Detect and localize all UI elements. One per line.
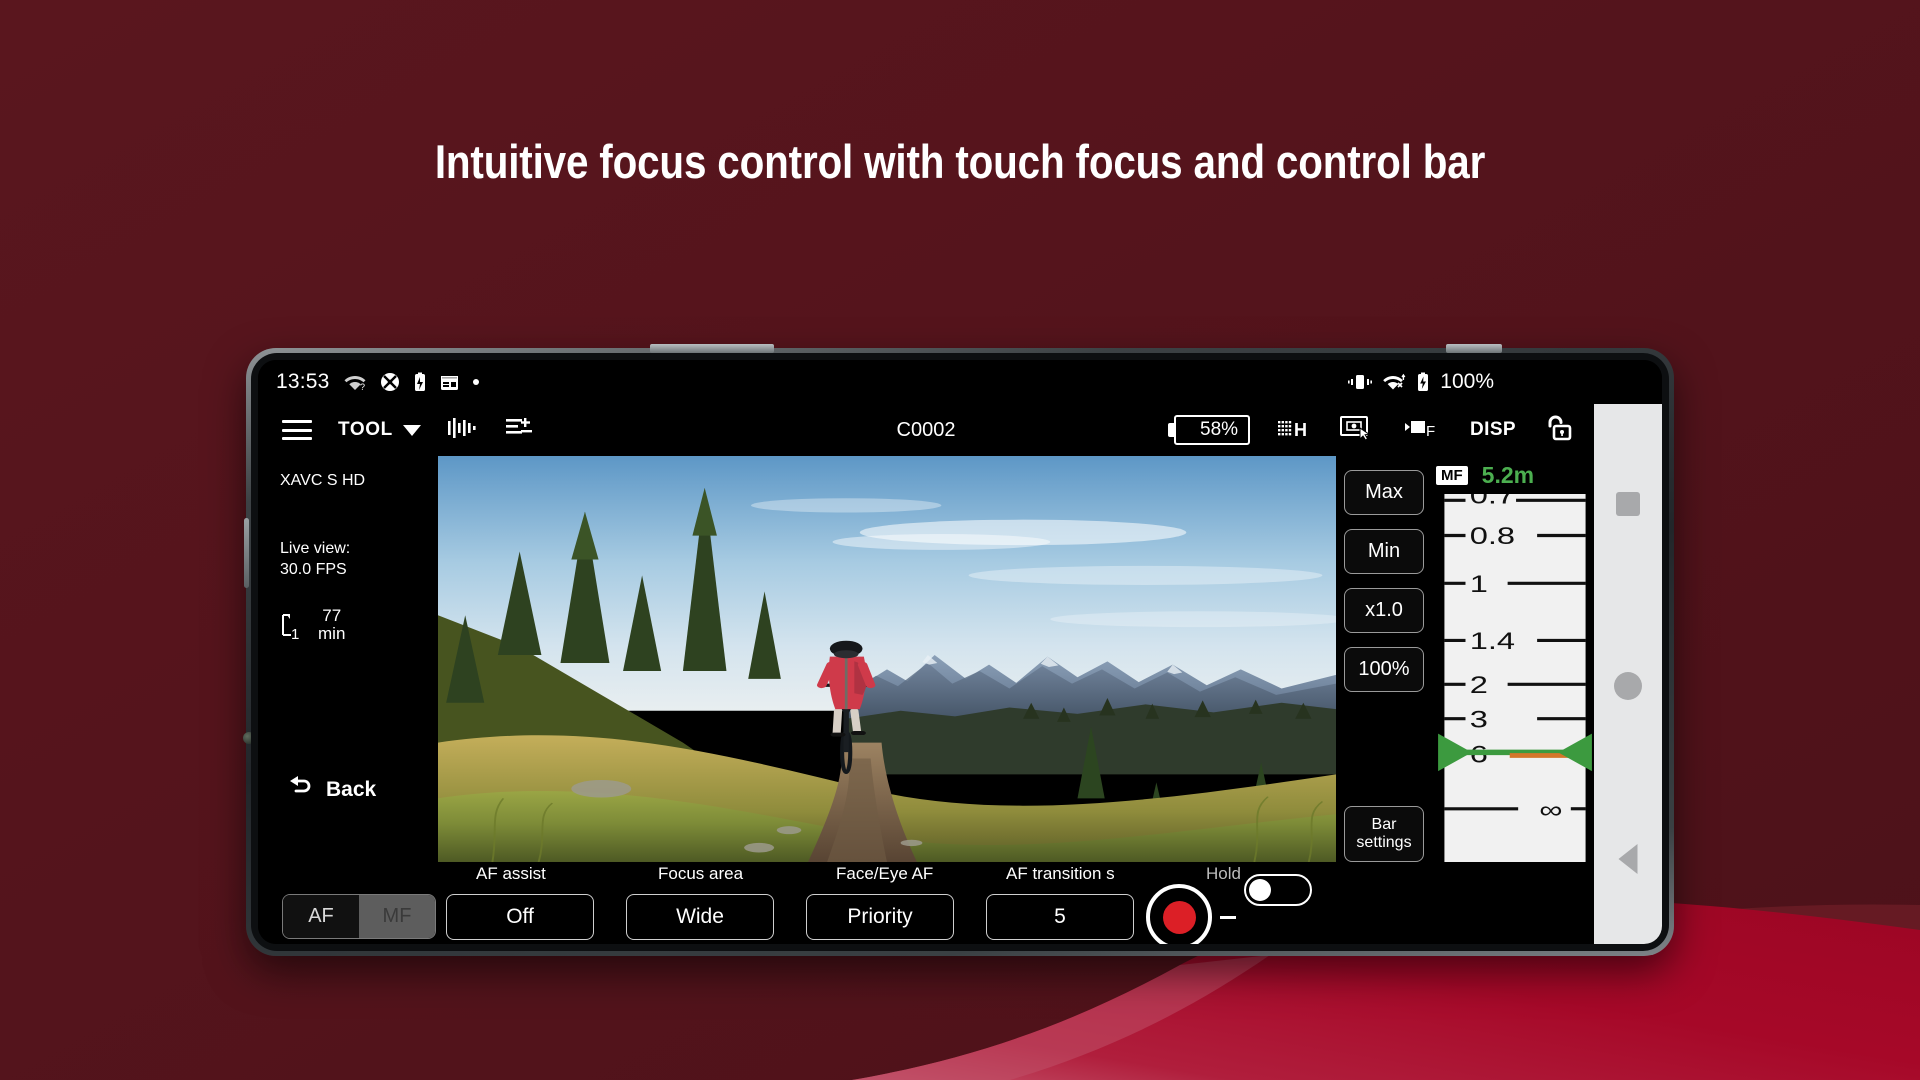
battery-saver-icon	[413, 372, 427, 392]
toolbar-right-group: 58% H	[1168, 414, 1574, 447]
phone-device: 13:53 ?	[246, 348, 1674, 956]
status-badge: 58%	[1168, 415, 1250, 445]
hamburger-menu-icon[interactable]	[282, 420, 312, 440]
connector-dash	[1220, 916, 1236, 919]
svg-text:∞: ∞	[1539, 797, 1562, 824]
back-button[interactable]: Back	[286, 774, 376, 806]
af-mf-toggle[interactable]: AF MF	[282, 894, 436, 939]
remaining-time: 77 min	[318, 607, 345, 643]
back-button-label: Back	[326, 776, 376, 804]
live-view-info: Live view: 30.0 FPS	[280, 538, 438, 581]
camera-content: XAVC S HD Live view: 30.0 FPS 1	[258, 456, 1594, 862]
live-view-fps: 30.0 FPS	[280, 559, 438, 581]
unlocked-padlock-icon[interactable]	[1544, 414, 1574, 447]
back-arrow-icon	[286, 774, 314, 806]
focus-mode-icon[interactable]: F	[1404, 417, 1442, 444]
speed-button[interactable]: x1.0	[1344, 588, 1424, 633]
recording-format-label: XAVC S HD	[280, 470, 438, 492]
bottom-control-bar: AF assist Focus area Face/Eye AF AF tran…	[258, 862, 1594, 944]
touch-focus-icon[interactable]	[1340, 414, 1376, 447]
focus-mode-badge: MF	[1436, 466, 1468, 485]
android-status-bar: 13:53 ?	[258, 360, 1662, 404]
control-bar-spacer	[1344, 706, 1424, 792]
max-button[interactable]: Max	[1344, 470, 1424, 515]
vibrate-icon	[1348, 373, 1372, 391]
dot-icon	[472, 378, 480, 386]
af-transition-value-button[interactable]: 5	[986, 894, 1134, 940]
af-assist-label: AF assist	[476, 864, 546, 884]
audio-levels-icon[interactable]	[447, 417, 479, 444]
live-view-image[interactable]	[438, 456, 1336, 862]
viewfinder[interactable]	[438, 456, 1336, 862]
camera-app: TOOL	[258, 404, 1662, 944]
disp-button[interactable]: DISP	[1470, 419, 1516, 441]
af-transition-label: AF transition s	[1006, 864, 1115, 884]
svg-text:H: H	[1294, 420, 1307, 439]
focus-area-value-button[interactable]: Wide	[626, 894, 774, 940]
camera-app-main: TOOL	[258, 404, 1594, 944]
bottom-labels-row: AF assist Focus area Face/Eye AF AF tran…	[258, 864, 1594, 888]
toggle-knob	[1249, 879, 1271, 901]
left-info-panel: XAVC S HD Live view: 30.0 FPS 1	[258, 456, 438, 862]
android-nav-rail	[1594, 404, 1662, 944]
svg-text:3: 3	[1470, 706, 1488, 733]
page-title: Intuitive focus control with touch focus…	[134, 134, 1785, 189]
phone-sensor-nub	[1446, 344, 1502, 353]
camera-battery-percent: 58%	[1174, 415, 1250, 445]
svg-text:0.8: 0.8	[1470, 523, 1515, 550]
focus-distance-panel: MF 5.2m	[1432, 456, 1594, 862]
svg-text:?: ?	[360, 382, 365, 391]
af-toggle-option[interactable]: AF	[283, 895, 359, 938]
recording-media-info: 1 77 min	[280, 607, 438, 643]
histogram-icon[interactable]: H	[1278, 417, 1312, 444]
face-eye-af-value-button[interactable]: Priority	[806, 894, 954, 940]
svg-text:F: F	[1426, 423, 1435, 439]
svg-text:1: 1	[1470, 571, 1488, 598]
bar-settings-button[interactable]: Bar settings	[1344, 806, 1424, 862]
tool-menu-label: TOOL	[338, 419, 393, 441]
af-assist-value-button[interactable]: Off	[446, 894, 594, 940]
control-bar-buttons: Max Min x1.0 100% Bar settings	[1336, 456, 1432, 862]
focus-panel-header: MF 5.2m	[1432, 456, 1594, 494]
focus-area-label: Focus area	[658, 864, 743, 884]
battery-percent-label: 100%	[1440, 370, 1494, 394]
svg-text:0.7: 0.7	[1470, 494, 1515, 509]
media-slot-icon: 1	[280, 612, 306, 642]
toolbar-left-group: TOOL	[282, 416, 535, 445]
face-eye-af-label: Face/Eye AF	[836, 864, 933, 884]
mf-toggle-option[interactable]: MF	[359, 895, 435, 938]
focus-distance-value: 5.2m	[1482, 462, 1534, 489]
bottom-buttons-row: AF MF Off Wide Priority 5	[258, 890, 1594, 942]
recents-square-icon[interactable]	[1616, 492, 1640, 516]
home-circle-icon[interactable]	[1614, 672, 1642, 700]
wifi-off-icon	[1382, 373, 1406, 391]
status-right-group: 100%	[1348, 370, 1494, 394]
phone-speaker-nub	[650, 344, 774, 353]
range-button[interactable]: 100%	[1344, 647, 1424, 692]
svg-text:2: 2	[1470, 672, 1488, 699]
back-triangle-icon[interactable]	[1619, 844, 1638, 874]
status-clock: 13:53	[276, 370, 330, 394]
wifi-question-icon: ?	[343, 373, 367, 391]
live-view-label: Live view:	[280, 538, 438, 560]
focus-distance-scale[interactable]: 0.7 0.8 1 1.4 2 3 6 ∞	[1436, 494, 1594, 862]
svg-text:1.4: 1.4	[1470, 628, 1515, 655]
tool-menu-button[interactable]: TOOL	[338, 419, 421, 441]
do-not-disturb-icon	[380, 372, 400, 392]
min-button[interactable]: Min	[1344, 529, 1424, 574]
remaining-time-unit: min	[318, 625, 345, 643]
hold-toggle-wrap	[1244, 874, 1312, 906]
camera-toolbar: TOOL	[258, 404, 1594, 456]
hold-toggle[interactable]	[1244, 874, 1312, 906]
svg-text:1: 1	[291, 626, 299, 642]
hold-label: Hold	[1206, 864, 1241, 884]
phone-screen: 13:53 ?	[258, 360, 1662, 944]
record-dot-icon	[1163, 901, 1196, 934]
remaining-time-value: 77	[318, 607, 345, 625]
status-left-group: 13:53 ?	[276, 370, 480, 394]
list-add-icon[interactable]	[505, 416, 535, 445]
record-button[interactable]	[1146, 884, 1212, 944]
phone-side-button	[244, 518, 249, 588]
battery-charging-icon	[1416, 372, 1430, 392]
calendar-icon	[440, 373, 459, 392]
chevron-down-icon	[403, 425, 421, 436]
